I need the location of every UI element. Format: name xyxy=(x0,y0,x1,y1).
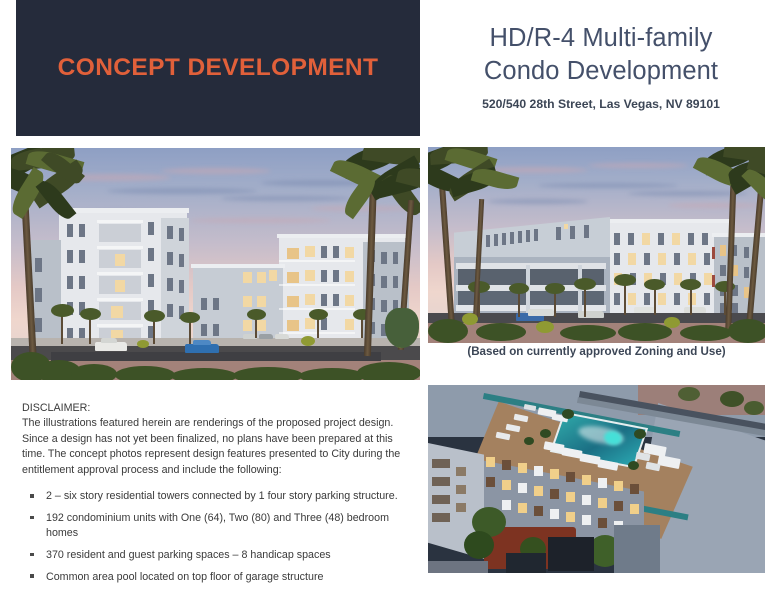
square-bullet-icon xyxy=(30,494,34,498)
list-item-text: 192 condominium units with One (64), Two… xyxy=(46,512,389,539)
list-item-text: Common area pool located on top floor of… xyxy=(46,571,323,583)
list-item: 192 condominium units with One (64), Two… xyxy=(22,511,402,541)
square-bullet-icon xyxy=(30,553,34,557)
page-title-line-2: Condo Development xyxy=(430,55,772,88)
concept-development-banner: CONCEPT DEVELOPMENT xyxy=(16,0,420,136)
disclaimer-heading: DISCLAIMER: xyxy=(22,401,402,416)
disclaimer-block: DISCLAIMER: The illustrations featured h… xyxy=(22,401,402,591)
square-bullet-icon xyxy=(30,574,34,578)
concept-development-label: CONCEPT DEVELOPMENT xyxy=(58,54,379,82)
list-item: 370 resident and guest parking spaces – … xyxy=(22,548,402,563)
rooftop-pool-aerial-rendering xyxy=(428,385,765,573)
list-item-text: 370 resident and guest parking spaces – … xyxy=(46,549,331,561)
zoning-caption: (Based on currently approved Zoning and … xyxy=(428,345,765,358)
list-item: 2 – six story residential towers connect… xyxy=(22,489,402,504)
page-title-line-1: HD/R-4 Multi-family xyxy=(430,22,772,55)
page-title: HD/R-4 Multi-family Condo Development xyxy=(430,22,772,87)
disclaimer-body: The illustrations featured herein are re… xyxy=(22,416,402,478)
parking-structure-rendering xyxy=(428,147,765,343)
list-item-text: 2 – six story residential towers connect… xyxy=(46,490,398,502)
page-subtitle-address: 520/540 28th Street, Las Vegas, NV 89101 xyxy=(430,97,772,111)
square-bullet-icon xyxy=(30,516,34,520)
street-level-dusk-rendering xyxy=(11,148,420,380)
list-item: Common area pool located on top floor of… xyxy=(22,570,402,585)
feature-bullet-list: 2 – six story residential towers connect… xyxy=(22,489,402,584)
title-block: HD/R-4 Multi-family Condo Development 52… xyxy=(430,22,772,111)
